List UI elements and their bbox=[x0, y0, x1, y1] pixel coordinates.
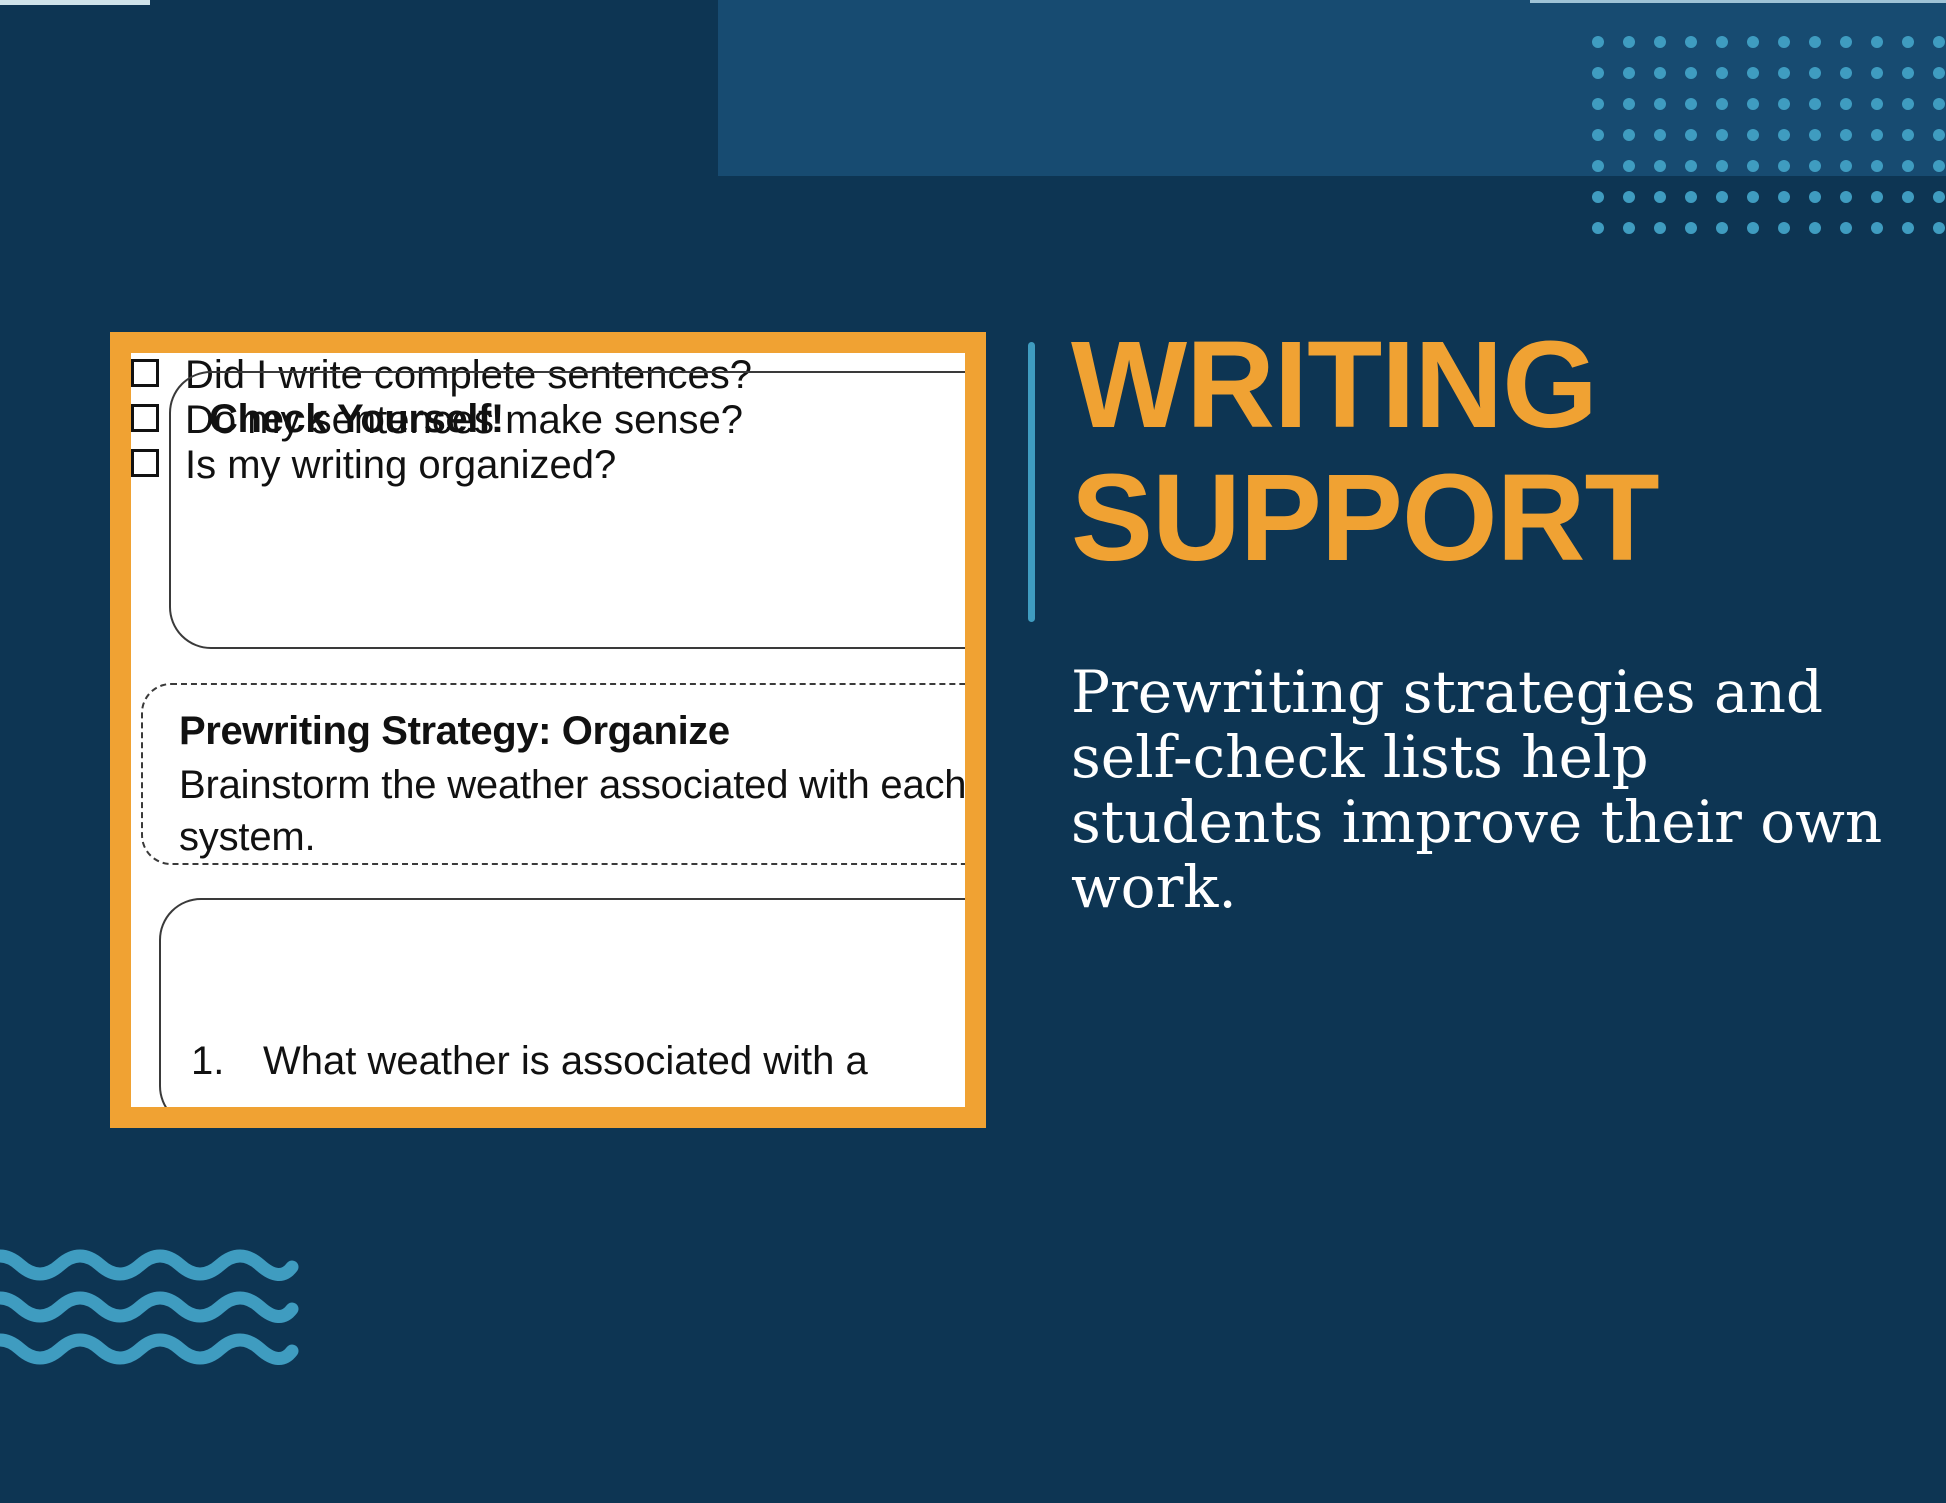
dot-grid-decoration bbox=[1588, 32, 1946, 237]
page-title-line-1: WRITING bbox=[1071, 320, 1901, 453]
question-number: 1. bbox=[191, 1039, 263, 1084]
worksheet-content: Check Yourself! Did I write complete sen… bbox=[131, 353, 965, 1107]
page-title-line-2: SUPPORT bbox=[1071, 453, 1901, 586]
prewriting-line-2: system. bbox=[179, 815, 315, 860]
page-subtitle: Prewriting strategies and self-check lis… bbox=[1071, 660, 1911, 920]
prewriting-heading: Prewriting Strategy: Organize bbox=[179, 709, 730, 754]
slide-canvas: Check Yourself! Did I write complete sen… bbox=[0, 0, 1946, 1503]
question-list-item: 1.What weather is associated with a bbox=[191, 1039, 868, 1084]
worksheet-image-frame: Check Yourself! Did I write complete sen… bbox=[110, 332, 986, 1128]
worksheet-image: Check Yourself! Did I write complete sen… bbox=[131, 353, 965, 1107]
top-hairline-right bbox=[1530, 0, 1946, 3]
prewriting-line-1: Brainstorm the weather associated with e… bbox=[179, 763, 965, 808]
title-accent-bar bbox=[1028, 342, 1035, 622]
top-hairline-left bbox=[0, 0, 150, 5]
checkbox-icon bbox=[131, 404, 159, 432]
check-yourself-heading: Check Yourself! bbox=[209, 397, 504, 442]
wave-lines-decoration bbox=[0, 1245, 300, 1370]
checkbox-icon bbox=[131, 359, 159, 387]
page-title: WRITING SUPPORT bbox=[1071, 320, 1901, 586]
question-text: What weather is associated with a bbox=[263, 1039, 868, 1083]
checkbox-icon bbox=[131, 449, 159, 477]
